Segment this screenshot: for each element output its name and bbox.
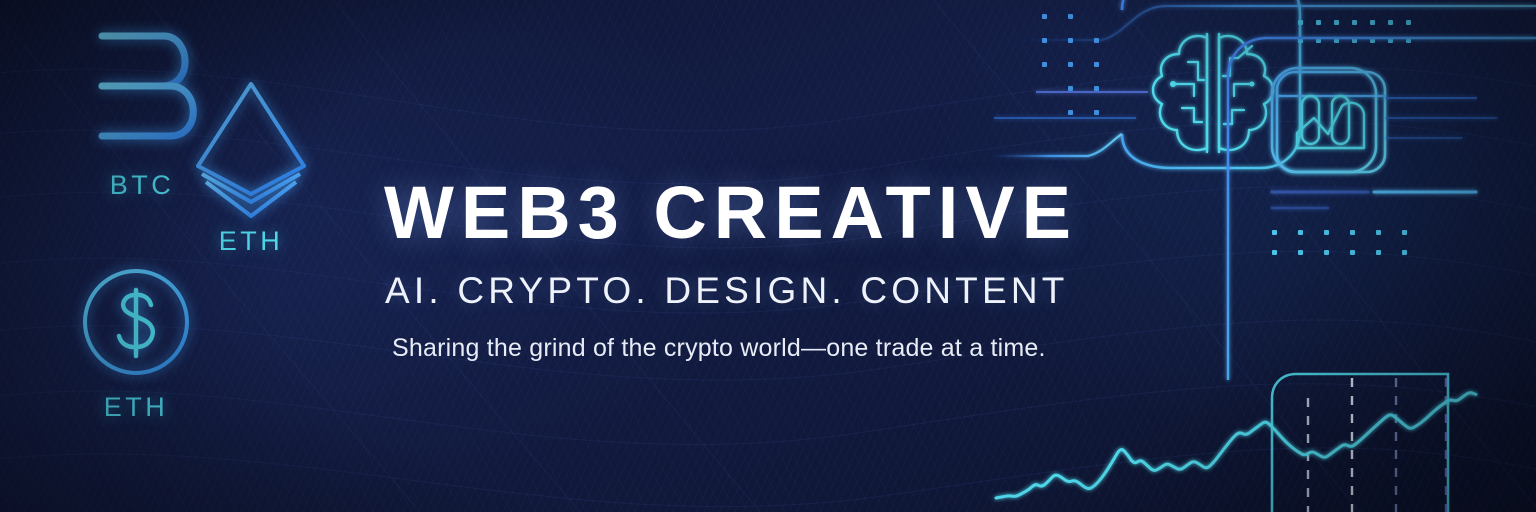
web3-creative-banner: BTC ETH — [0, 0, 1536, 512]
tech-graphics-layer — [976, 0, 1536, 512]
circuit-brain-icon — [990, 0, 1536, 168]
dollar-coin-icon — [66, 264, 206, 380]
price-line-chart-icon — [996, 374, 1476, 512]
bottom-left-trace-lines — [0, 422, 420, 512]
crypto-label-dollar: ETH — [66, 394, 206, 421]
crypto-item-eth: ETH — [188, 78, 314, 255]
dot-grid-top-right — [1298, 20, 1411, 43]
crypto-label-eth: ETH — [188, 228, 314, 255]
dot-grid-mid-left — [1042, 14, 1099, 115]
crypto-icon-cluster: BTC ETH — [0, 0, 340, 470]
crypto-item-dollar: ETH — [66, 264, 206, 421]
dot-grid-below-card — [1272, 230, 1407, 255]
ethereum-icon — [188, 78, 314, 220]
pause-bars-icon — [1228, 38, 1536, 380]
